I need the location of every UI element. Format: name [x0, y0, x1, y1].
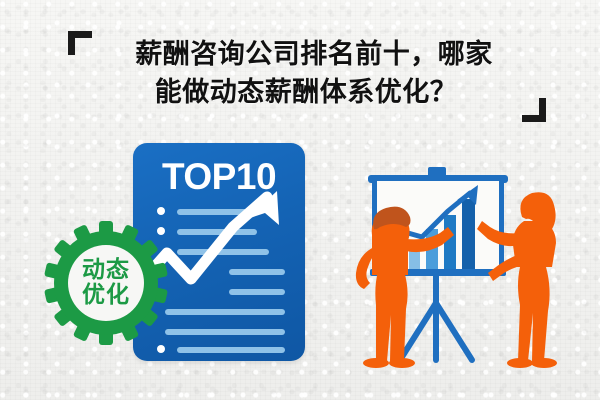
headline-line-1: 薪酬咨询公司排名前十，哪家 [0, 32, 600, 71]
headline-line-2: 能做动态薪酬体系优化？ [0, 70, 600, 109]
gear-badge-line-2: 优化 [82, 283, 130, 308]
bar-4 [444, 215, 456, 269]
presentation-scene [330, 155, 585, 370]
headline-block: 薪酬咨询公司排名前十，哪家 能做动态薪酬体系优化？ [0, 22, 600, 132]
doc-line [165, 329, 285, 335]
gear-badge-text: 动态 优化 [44, 221, 168, 345]
poster-canvas: 薪酬咨询公司排名前十，哪家 能做动态薪酬体系优化？ TOP10 [0, 0, 600, 400]
doc-bullet-icon [157, 345, 165, 353]
gear-badge-line-1: 动态 [82, 258, 130, 283]
doc-line [177, 347, 285, 353]
dynamic-optimization-gear-badge: 动态 优化 [44, 221, 168, 345]
bar-5 [462, 199, 475, 269]
